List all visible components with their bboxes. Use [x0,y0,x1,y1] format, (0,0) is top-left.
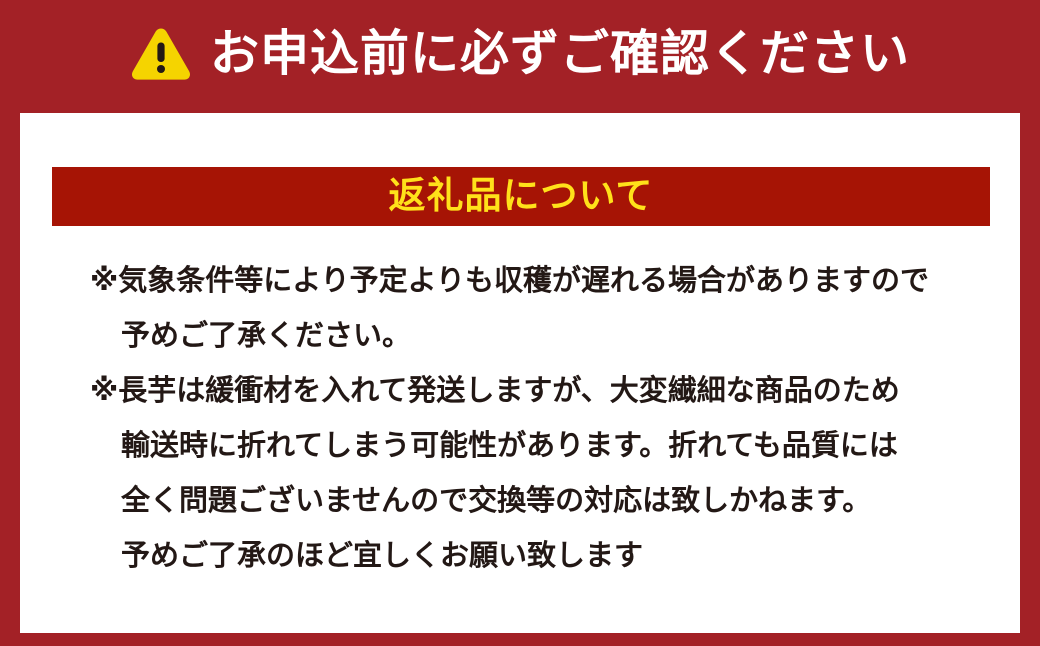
section-banner-title: 返礼品について [389,177,654,214]
note-line: 全く問題ございませんので交換等の対応は致しかねます。 [90,473,980,528]
warning-triangle-icon [130,25,192,83]
note-line: ※長芋は緩衝材を入れて発送しますが、大変繊細な商品のため [90,363,980,418]
note-line: 予めご了承ください。 [90,308,980,363]
note-line: 輸送時に折れてしまう可能性があります。折れても品質には [90,418,980,473]
note-line: ※気象条件等により予定よりも収穫が遅れる場合がありますので [90,253,980,308]
notes-container: ※気象条件等により予定よりも収穫が遅れる場合がありますので 予めご了承ください。… [90,253,980,583]
content-card: 返礼品について ※気象条件等により予定よりも収穫が遅れる場合がありますので 予め… [20,113,1020,633]
page-title: お申込前に必ずご確認ください [210,29,910,78]
note-item: ※気象条件等により予定よりも収穫が遅れる場合がありますので 予めご了承ください。 [90,253,980,363]
notice-banner-page: お申込前に必ずご確認ください 返礼品について ※気象条件等により予定よりも収穫が… [0,0,1040,646]
section-banner: 返礼品について [52,167,990,226]
note-line: 予めご了承のほど宜しくお願い致します [90,528,980,583]
page-header: お申込前に必ずご確認ください [0,0,1040,113]
header-content: お申込前に必ずご確認ください [130,25,910,83]
note-item: ※長芋は緩衝材を入れて発送しますが、大変繊細な商品のため 輸送時に折れてしまう可… [90,363,980,583]
